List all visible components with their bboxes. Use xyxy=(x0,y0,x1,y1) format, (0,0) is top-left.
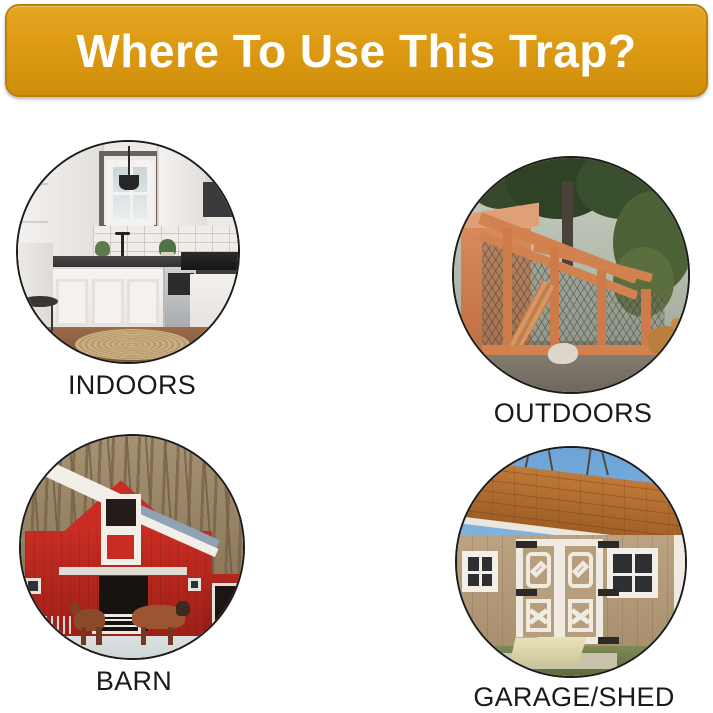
photo-garage-shed xyxy=(455,446,687,678)
header-banner: Where To Use This Trap? xyxy=(5,4,708,97)
page-title: Where To Use This Trap? xyxy=(76,28,636,74)
barn-window xyxy=(188,578,201,591)
cabinet-door xyxy=(92,279,124,327)
photo-outdoors xyxy=(452,156,690,394)
card-outdoors[interactable]: OUTDOORS xyxy=(452,156,694,429)
hayloft-opening xyxy=(101,494,141,532)
hayloft-door xyxy=(101,529,141,565)
door-hinge xyxy=(598,589,619,596)
potted-plant xyxy=(95,241,110,256)
microwave xyxy=(203,182,238,217)
pantry-cabinet xyxy=(18,243,53,340)
cabinet-door xyxy=(127,279,159,327)
chicken xyxy=(648,326,681,354)
card-label-barn: BARN xyxy=(19,666,249,697)
door-cross-brace xyxy=(568,599,593,632)
card-barn[interactable]: BARN xyxy=(19,434,249,697)
pendant-light xyxy=(119,175,139,190)
kitchen-window xyxy=(106,160,154,226)
card-label-garage-shed: GARAGE/SHED xyxy=(455,682,693,713)
bar-stool-leg xyxy=(29,305,31,338)
coop-post xyxy=(597,270,606,354)
faucet-stem xyxy=(121,232,124,256)
door-hinge xyxy=(598,637,619,644)
card-label-outdoors: OUTDOORS xyxy=(452,398,694,429)
door-hinge xyxy=(516,589,537,596)
gas-cooktop xyxy=(181,252,238,270)
photo-barn xyxy=(19,434,245,660)
shed-window-left xyxy=(462,551,498,592)
cabinet-door xyxy=(56,279,88,327)
wooden-ramp xyxy=(509,637,587,664)
corner-trim xyxy=(674,535,685,649)
door-hinge xyxy=(598,541,619,548)
braided-oval-rug xyxy=(75,329,189,360)
card-garage-shed[interactable]: GARAGE/SHED xyxy=(455,446,693,713)
pendant-cord xyxy=(128,146,130,177)
horse-leg xyxy=(96,627,102,645)
card-label-indoors: INDOORS xyxy=(16,370,248,401)
coop-post xyxy=(550,247,559,352)
door-track-beam xyxy=(59,567,188,575)
horse-leg xyxy=(81,627,87,645)
chicken xyxy=(548,343,578,364)
bar-stool-leg xyxy=(51,305,53,338)
shed-door-right xyxy=(561,542,600,641)
door-hinge xyxy=(516,541,537,548)
side-wing-door xyxy=(212,583,239,632)
photo-indoors xyxy=(16,140,240,364)
cabinet-seam xyxy=(20,183,48,185)
card-indoors[interactable]: INDOORS xyxy=(16,140,248,401)
horse xyxy=(132,605,185,629)
cabinet-seam xyxy=(20,221,48,223)
chicken-coop-scene xyxy=(454,158,688,392)
coop-post xyxy=(503,228,512,352)
barn-scene xyxy=(21,436,243,658)
barn-window xyxy=(25,578,41,594)
lower-cabinets xyxy=(53,267,163,335)
use-case-grid: INDOORS xyxy=(0,112,713,701)
horse-leg xyxy=(141,627,147,645)
feed-rack xyxy=(45,616,74,634)
shed-scene xyxy=(457,448,685,676)
door-cross-brace xyxy=(526,599,551,632)
horse-leg xyxy=(168,627,174,645)
kitchen-scene xyxy=(18,142,238,362)
